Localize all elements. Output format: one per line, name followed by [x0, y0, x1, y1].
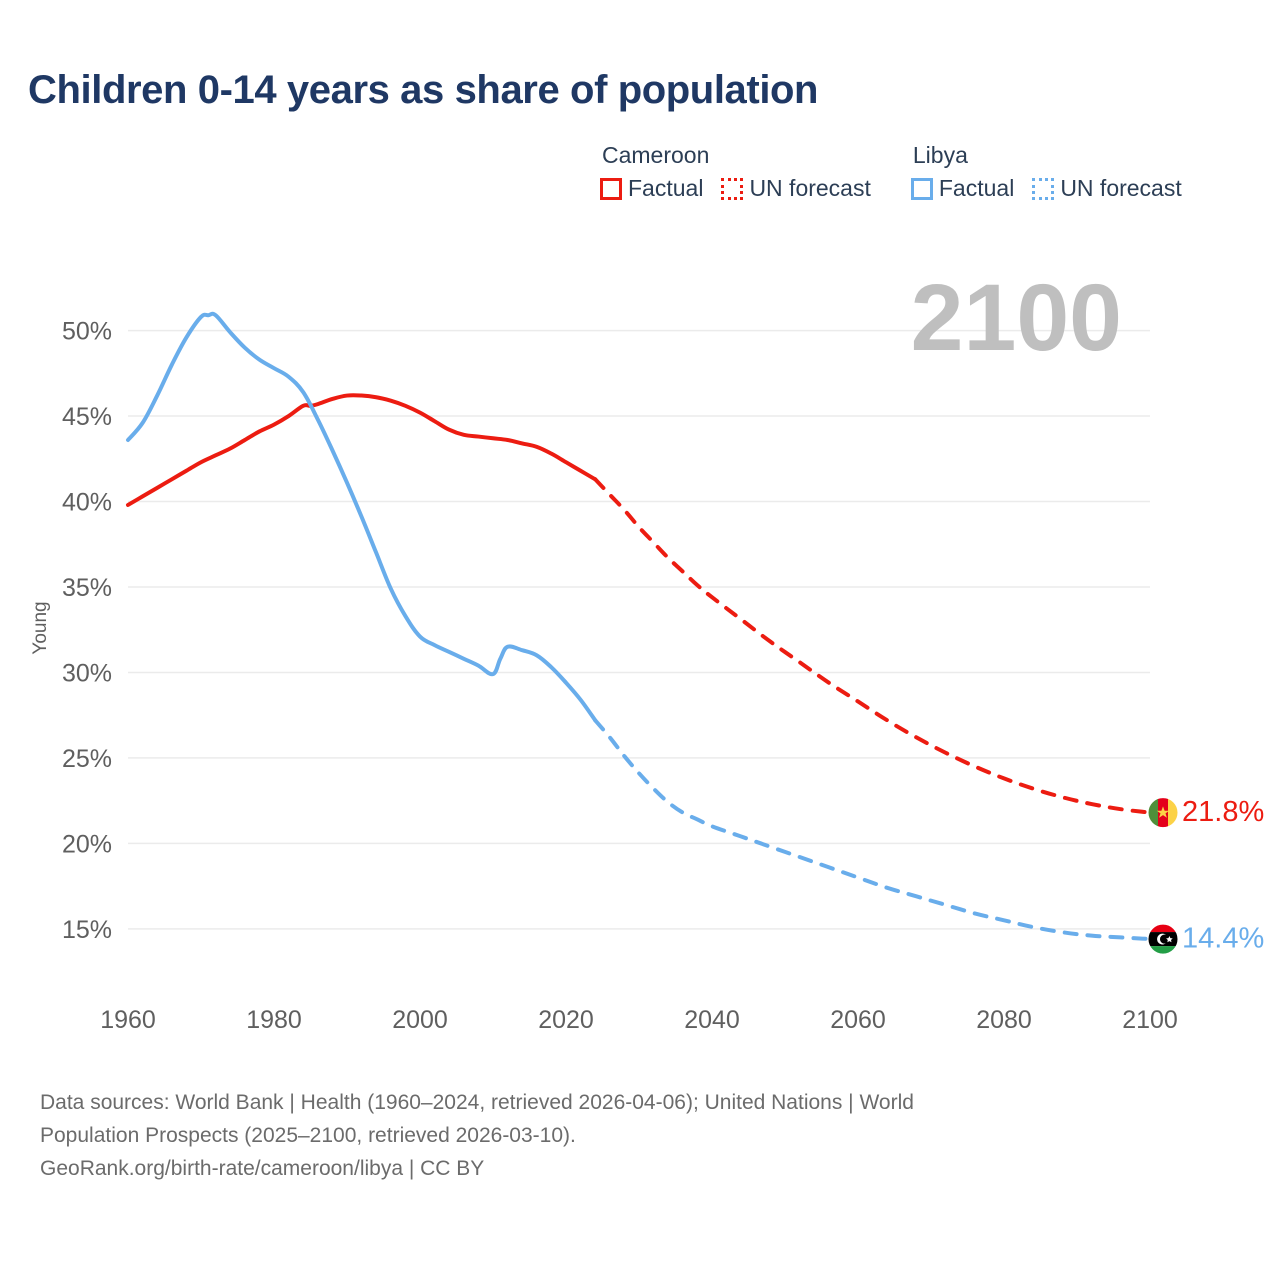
- footer-line-2: Population Prospects (2025–2100, retriev…: [40, 1119, 1220, 1152]
- y-tick-label: 35%: [62, 574, 112, 602]
- y-tick-label: 50%: [62, 318, 112, 346]
- x-tick-label: 2060: [830, 1006, 886, 1034]
- footer-line-3[interactable]: GeoRank.org/birth-rate/cameroon/libya | …: [40, 1152, 1220, 1185]
- end-label-cameroon: 21.8%: [1182, 796, 1264, 828]
- chart-plot-area: 15%20%25%30%35%40%45%50% 196019802000202…: [0, 0, 1280, 1070]
- watermark-year: 2100: [911, 265, 1122, 371]
- series-line-factual-cameroon: [128, 395, 595, 505]
- y-tick-label: 15%: [62, 916, 112, 944]
- x-tick-label: 1980: [246, 1006, 302, 1034]
- y-tick-label: 40%: [62, 489, 112, 517]
- cameroon-flag-icon: [1148, 798, 1178, 828]
- footer-sources: Data sources: World Bank | Health (1960–…: [40, 1086, 1220, 1185]
- series-line-factual-libya: [128, 314, 595, 721]
- y-tick-label: 45%: [62, 403, 112, 431]
- end-markers: 21.8%14.4%: [1148, 796, 1264, 954]
- y-axis-tick-labels: 15%20%25%30%35%40%45%50%: [62, 318, 112, 944]
- x-tick-label: 2100: [1122, 1006, 1178, 1034]
- y-axis-title: Young: [30, 601, 51, 654]
- footer-line-1: Data sources: World Bank | Health (1960–…: [40, 1086, 1220, 1119]
- y-tick-label: 30%: [62, 659, 112, 687]
- x-tick-label: 2000: [392, 1006, 448, 1034]
- x-tick-label: 2080: [976, 1006, 1032, 1034]
- y-tick-label: 20%: [62, 830, 112, 858]
- x-axis-tick-labels: 19601980200020202040206020802100: [100, 1006, 1178, 1034]
- line-chart-svg: 15%20%25%30%35%40%45%50% 196019802000202…: [0, 0, 1280, 1070]
- y-tick-label: 25%: [62, 745, 112, 773]
- end-label-libya: 14.4%: [1182, 923, 1264, 955]
- x-tick-label: 2040: [684, 1006, 740, 1034]
- series-line-forecast-cameroon: [595, 479, 1150, 812]
- series-paths: [128, 314, 1150, 939]
- x-tick-label: 1960: [100, 1006, 156, 1034]
- libya-flag-icon: [1148, 924, 1178, 954]
- x-tick-label: 2020: [538, 1006, 594, 1034]
- series-line-forecast-libya: [595, 720, 1150, 939]
